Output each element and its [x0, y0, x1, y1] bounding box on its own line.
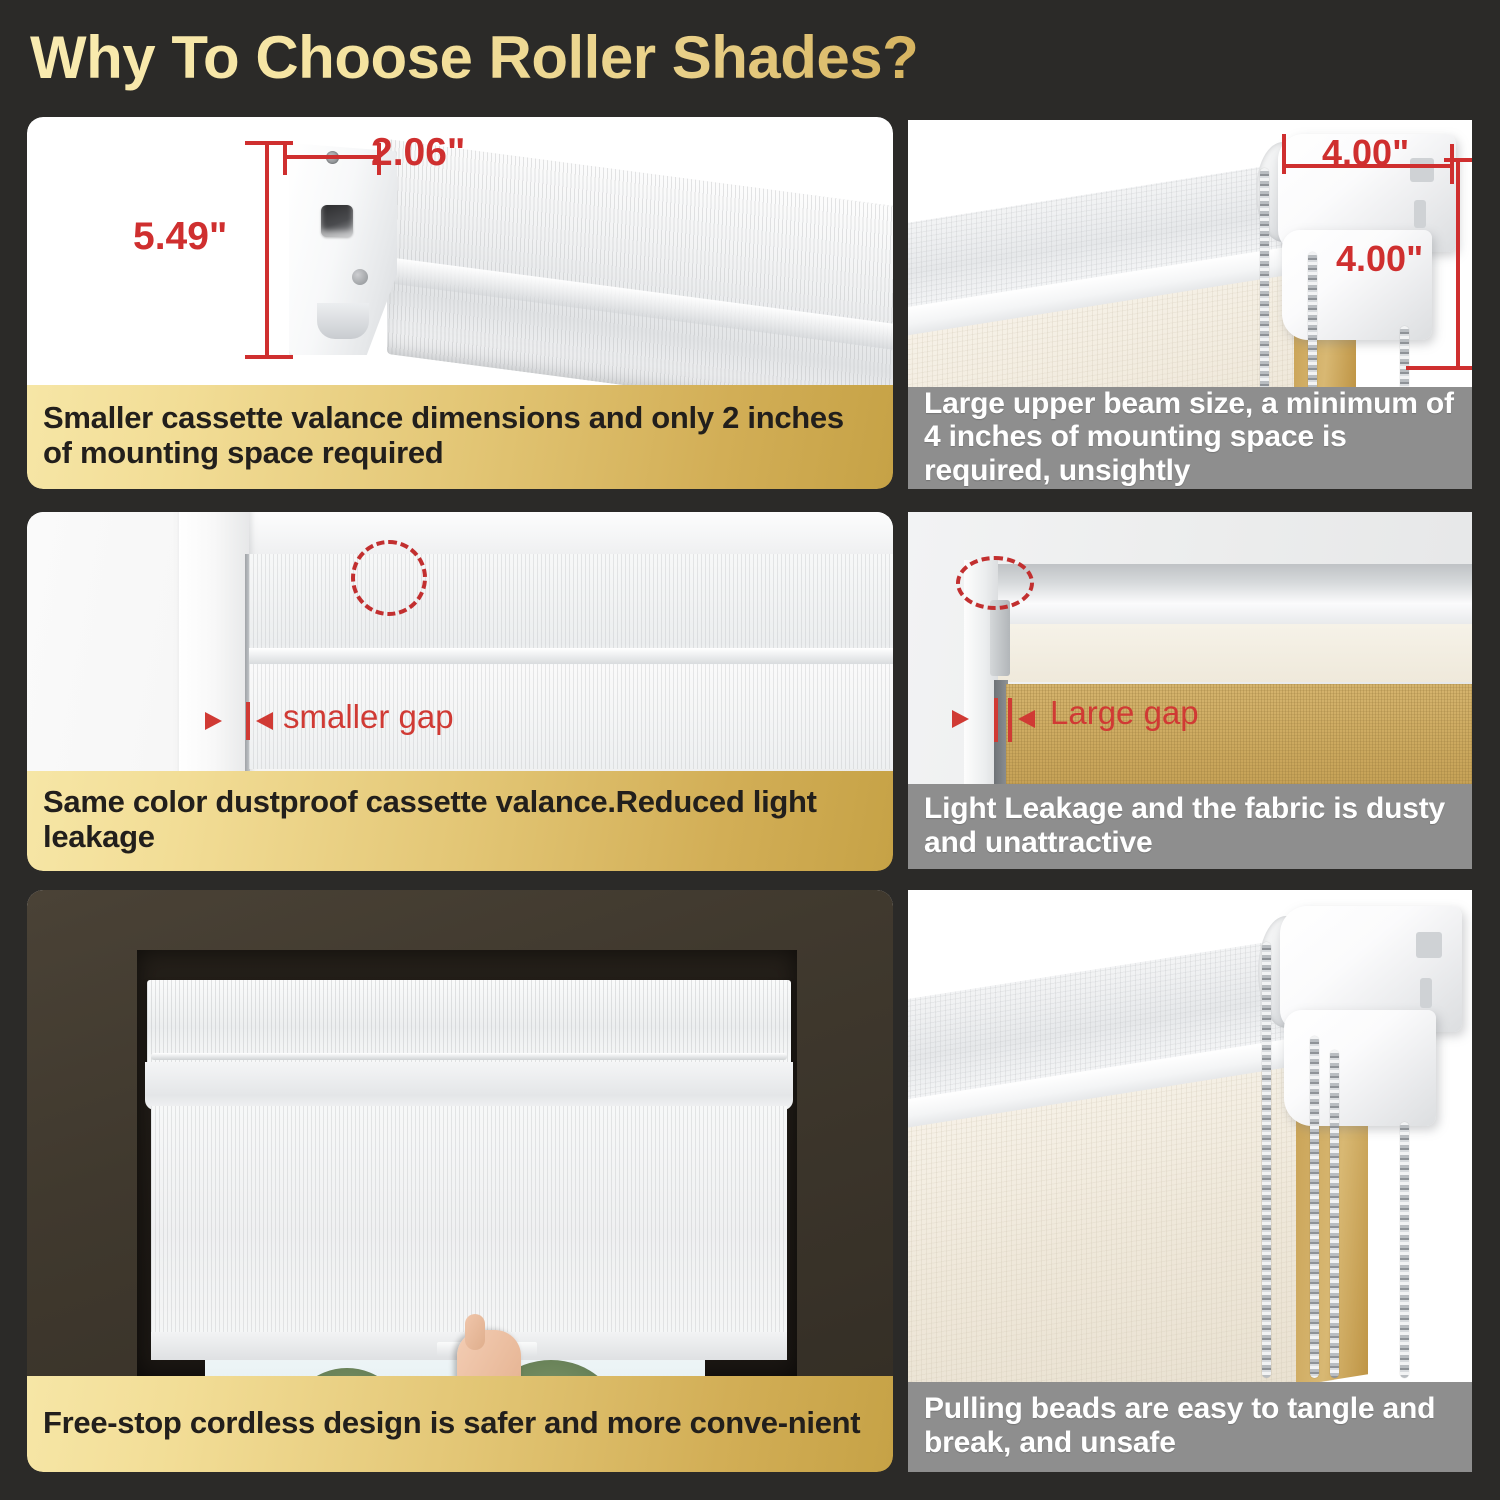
- highlight-circle-icon: [956, 556, 1034, 610]
- bracket-hinge: [990, 600, 1010, 676]
- dim-height-tick-top: [245, 141, 293, 145]
- dimension-label-height: 5.49": [133, 215, 227, 259]
- upper-beam: [994, 564, 1472, 630]
- window-frame-top: [179, 512, 893, 554]
- roller-tube: [317, 303, 369, 339]
- bead-chain-middle: [1308, 252, 1317, 387]
- panel-smaller-gap: smaller gap Same color dustproof cassett…: [27, 512, 893, 871]
- panel-1-photo: 2.06" 5.49": [27, 117, 893, 385]
- dim-height-tick-bottom: [245, 355, 293, 359]
- infographic-root: Why To Choose Roller Shades? 2.06" 5.49"…: [0, 0, 1500, 1500]
- highlight-circle-icon: [351, 540, 427, 616]
- gap-arrow-right-icon: [256, 712, 273, 730]
- gap-callout-label: Large gap: [1050, 694, 1199, 732]
- window-frame-side: [179, 512, 249, 771]
- panel-6-caption: Pulling beads are easy to tangle and bre…: [908, 1382, 1472, 1472]
- panel-5-caption-text: Free-stop cordless design is safer and m…: [43, 1406, 860, 1441]
- gap-arrow-left-icon: [205, 712, 222, 730]
- gap-measure-tick-1: [994, 698, 998, 742]
- mounting-bracket-lower: [1284, 1010, 1436, 1126]
- panel-3-caption: Same color dustproof cassette valance.Re…: [27, 771, 893, 871]
- gap-arrow-left-icon: [952, 710, 969, 728]
- panel-5-caption: Free-stop cordless design is safer and m…: [27, 1376, 893, 1472]
- dim-width-tick-left: [283, 143, 287, 175]
- panel-4-caption-text: Light Leakage and the fabric is dusty an…: [924, 792, 1456, 859]
- panel-5-photo: [27, 890, 893, 1376]
- bracket-notch-2: [1420, 978, 1432, 1008]
- valance-fabric: [387, 139, 893, 385]
- cassette-shade: [249, 554, 893, 769]
- fabric-upper-band: [994, 624, 1472, 682]
- hand: [457, 1330, 521, 1376]
- gap-arrow-right-icon: [1018, 710, 1035, 728]
- dim-v-bar: [1456, 158, 1460, 370]
- panel-6-caption-text: Pulling beads are easy to tangle and bre…: [924, 1392, 1456, 1459]
- shade-fabric: [151, 1106, 787, 1338]
- panel-smaller-cassette: 2.06" 5.49" Smaller cassette valance dim…: [27, 117, 893, 489]
- gap-measure-tick: [246, 702, 250, 740]
- bead-chain-front: [1260, 168, 1269, 387]
- cassette-valance: [147, 980, 791, 1066]
- bead-chain-rear: [1400, 326, 1409, 387]
- panel-2-caption: Large upper beam size, a minimum of 4 in…: [908, 387, 1472, 489]
- bracket-notch-1: [1410, 158, 1434, 182]
- panel-6-photo: [908, 890, 1472, 1382]
- panel-pulling-beads: Pulling beads are easy to tangle and bre…: [908, 890, 1472, 1472]
- page-title: Why To Choose Roller Shades?: [30, 22, 1230, 94]
- panel-large-gap: Large gap Light Leakage and the fabric i…: [908, 512, 1472, 869]
- panel-large-upper-beam: 4.00" 4.00" Large upper beam size, a min…: [908, 120, 1472, 489]
- gap-measure-tick-2: [1008, 698, 1012, 742]
- panel-3-photo: smaller gap: [27, 512, 893, 771]
- panel-4-photo: Large gap: [908, 512, 1472, 784]
- bead-chain-rear: [1400, 1122, 1409, 1378]
- dimension-label-width: 4.00": [1322, 132, 1409, 174]
- bead-chain-middle: [1310, 1036, 1319, 1378]
- dim-v-tick-bottom: [1406, 366, 1472, 370]
- screw-bottom-icon: [352, 269, 368, 285]
- bead-chain-front: [1262, 942, 1271, 1378]
- panel-3-caption-text: Same color dustproof cassette valance.Re…: [43, 785, 877, 854]
- panel-1-caption: Smaller cassette valance dimensions and …: [27, 385, 893, 489]
- dim-h-tick-right: [1450, 144, 1454, 184]
- panel-2-caption-text: Large upper beam size, a minimum of 4 in…: [924, 387, 1456, 488]
- dim-h-tick-left: [1282, 134, 1286, 174]
- panel-2-photo: 4.00" 4.00": [908, 120, 1472, 387]
- panel-4-caption: Light Leakage and the fabric is dusty an…: [908, 784, 1472, 869]
- bracket-slot: [321, 205, 353, 237]
- dim-height-bar: [265, 141, 269, 359]
- dimension-label-width: 2.06": [371, 131, 465, 175]
- dim-width-bar: [283, 155, 381, 159]
- bracket-notch-1: [1416, 932, 1442, 958]
- gap-callout-label: smaller gap: [283, 698, 454, 736]
- dimension-label-height: 4.00": [1336, 238, 1423, 280]
- bracket-notch-2: [1414, 200, 1426, 228]
- panel-cordless-design: Free-stop cordless design is safer and m…: [27, 890, 893, 1472]
- panel-1-caption-text: Smaller cassette valance dimensions and …: [43, 401, 877, 470]
- valance-lip: [145, 1062, 793, 1110]
- dim-v-tick-top: [1444, 158, 1472, 162]
- bead-chain-middle-2: [1330, 1050, 1339, 1378]
